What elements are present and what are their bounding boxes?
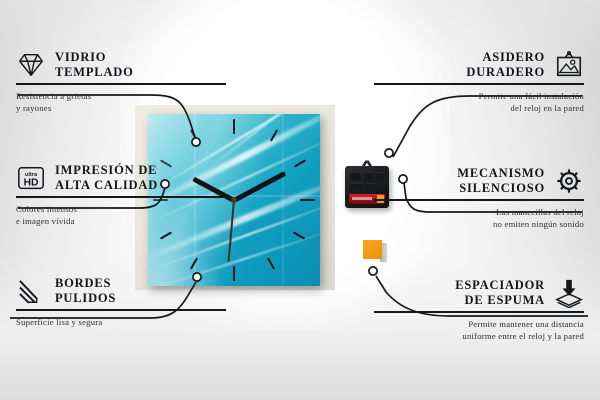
feature-vidrio-templado[interactable]: VIDRIO TEMPLADO Resistencia a grietas y … [16, 50, 226, 114]
ultra-hd-badge-icon: ultra HD [16, 163, 46, 193]
diamond-icon [16, 50, 46, 80]
feature-divider [374, 199, 584, 201]
feature-mecanismo-silencioso[interactable]: MECANISMO SILENCIOSO Las manecillas del … [374, 166, 584, 230]
feature-desc-line2: uniforme entre el reloj y la pared [374, 330, 584, 342]
feature-title-line1: VIDRIO [55, 50, 134, 65]
feature-divider [374, 311, 584, 313]
feature-divider [16, 83, 226, 85]
feature-title-line2: SILENCIOSO [457, 181, 545, 196]
feature-bordes-pulidos[interactable]: BORDES PULIDOS Superficie lisa y segura [16, 276, 226, 328]
feature-desc-line2: no emiten ningún sonido [374, 218, 584, 230]
feature-desc-line1: Resistencia a grietas [16, 90, 226, 102]
feature-asidero-duradero[interactable]: ASIDERO DURADERO Permite una fácil insta… [374, 50, 584, 114]
hanging-frame-icon [554, 50, 584, 80]
feature-title-line1: ESPACIADOR [455, 278, 545, 293]
clock-center-cap [231, 197, 237, 203]
feature-desc-line1: Permite una fácil instalación [374, 90, 584, 102]
foam-spacer [363, 240, 382, 259]
feature-impresion-alta-calidad[interactable]: ultra HD IMPRESIÓN DE ALTA CALIDAD Color… [16, 163, 226, 227]
feature-desc-line2: e imagen vívida [16, 215, 226, 227]
feature-desc-line2: y rayones [16, 102, 226, 114]
feature-title-line2: PULIDOS [55, 291, 116, 306]
press-down-foam-icon [554, 278, 584, 308]
feature-title-line2: DE ESPUMA [455, 293, 545, 308]
battery-label-stripe [352, 197, 372, 200]
feature-title-line2: TEMPLADO [55, 65, 134, 80]
feature-desc-line1: Permite mantener una distancia [374, 318, 584, 330]
feature-title-line1: IMPRESIÓN DE [55, 163, 158, 178]
feature-title-line1: ASIDERO [466, 50, 545, 65]
feature-desc-line1: Colores intensos [16, 203, 226, 215]
feature-title-line1: MECANISMO [457, 166, 545, 181]
polished-edges-icon [16, 276, 46, 306]
badge-large-text: HD [24, 178, 39, 189]
feature-espaciador-espuma[interactable]: ESPACIADOR DE ESPUMA Permite mantener un… [374, 278, 584, 342]
feature-desc-line2: del reloj en la pared [374, 102, 584, 114]
feature-title-line2: ALTA CALIDAD [55, 178, 158, 193]
gear-icon [554, 166, 584, 196]
feature-divider [16, 196, 226, 198]
feature-desc-line1: Las manecillas del reloj [374, 206, 584, 218]
feature-title-line1: BORDES [55, 276, 116, 291]
feature-title-line2: DURADERO [466, 65, 545, 80]
infographic-canvas: VIDRIO TEMPLADO Resistencia a grietas y … [0, 0, 600, 400]
feature-desc-line1: Superficie lisa y segura [16, 316, 226, 328]
feature-divider [16, 309, 226, 311]
feature-divider [374, 83, 584, 85]
